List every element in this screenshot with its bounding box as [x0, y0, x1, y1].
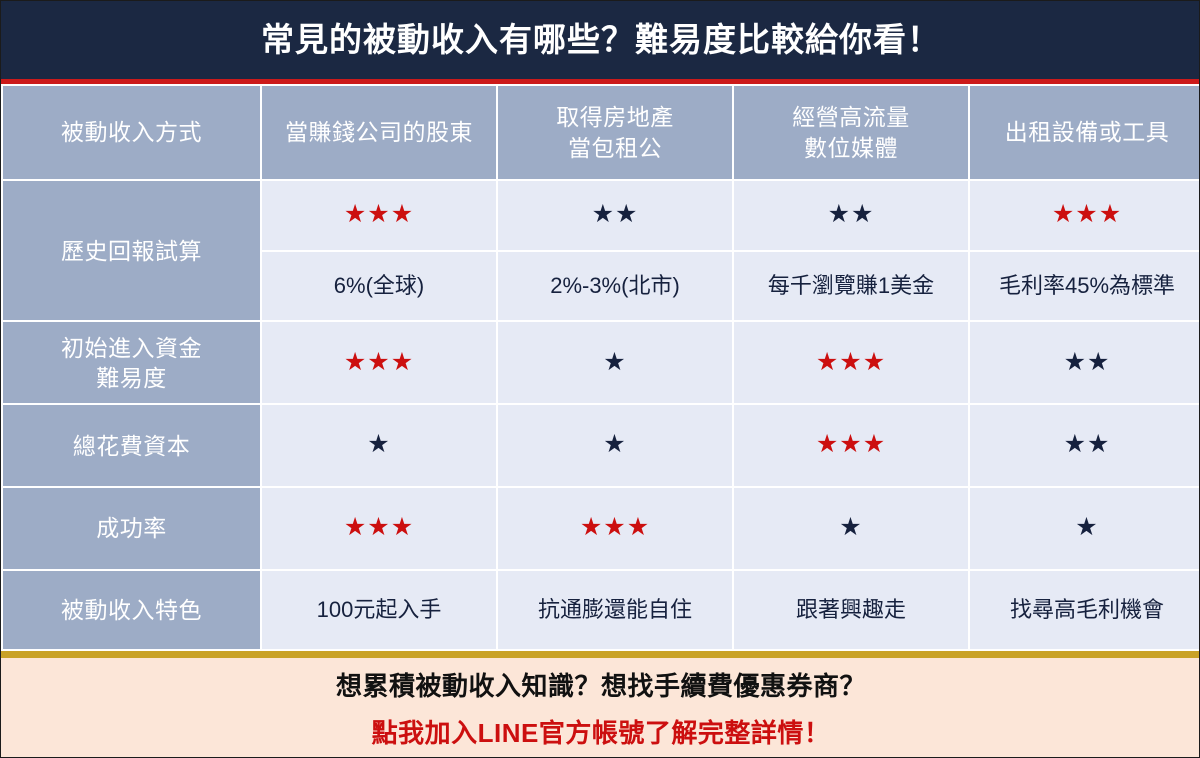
cell-r3c3-stars: ★	[734, 488, 968, 569]
cell-r4c2-value: 抗通膨還能自住	[498, 571, 732, 649]
cell-r3c2-stars: ★★★	[498, 488, 732, 569]
row-label-1-line-1: 初始進入資金	[3, 333, 260, 363]
cell-r1c2-stars: ★	[498, 322, 732, 403]
star-rating: ★★	[1064, 430, 1111, 458]
cell-r0c3-stars: ★★	[734, 181, 968, 250]
comparison-table: 被動收入方式 當賺錢公司的股東 取得房地產 當包租公 經營高流量 數位媒體 出租…	[1, 84, 1200, 651]
header-col-1: 當賺錢公司的股東	[262, 86, 496, 179]
star-rating: ★★	[1064, 348, 1111, 376]
row-label-1-line-2: 難易度	[3, 363, 260, 393]
header-col-1-line-1: 當賺錢公司的股東	[262, 117, 496, 147]
header-col-4: 出租設備或工具	[970, 86, 1200, 179]
cell-value: 100元起入手	[317, 597, 442, 622]
cell-value: 跟著興趣走	[796, 597, 906, 622]
cta-banner: 想累積被動收入知識？想找手續費優惠券商？ 點我加入LINE官方帳號了解完整詳情！	[1, 658, 1200, 758]
table-row: 歷史回報試算 ★★★ ★★ ★★ ★★★	[3, 181, 1200, 250]
row-label-4: 被動收入特色	[3, 571, 260, 649]
cell-r4c3-value: 跟著興趣走	[734, 571, 968, 649]
row-label-4-line-1: 被動收入特色	[3, 595, 260, 625]
header-col-3: 經營高流量 數位媒體	[734, 86, 968, 179]
infographic-page: 常見的被動收入有哪些？難易度比較給你看！ 被動收入方式 當賺錢公司的股東 取得房…	[0, 0, 1200, 758]
row-label-2-line-1: 總花費資本	[3, 431, 260, 461]
comparison-table-wrapper: 被動收入方式 當賺錢公司的股東 取得房地產 當包租公 經營高流量 數位媒體 出租…	[1, 84, 1200, 651]
row-label-0: 歷史回報試算	[3, 181, 260, 320]
star-rating: ★★	[592, 200, 639, 228]
star-rating: ★★	[828, 200, 875, 228]
row-label-3-line-1: 成功率	[3, 513, 260, 543]
cell-r0c3-value: 每千瀏覽賺1美金	[734, 252, 968, 321]
row-label-2: 總花費資本	[3, 405, 260, 486]
cell-value: 每千瀏覽賺1美金	[768, 273, 934, 298]
star-rating: ★	[1075, 513, 1098, 541]
table-row: 總花費資本 ★ ★ ★★★ ★★	[3, 405, 1200, 486]
header-col-2-line-1: 取得房地產	[498, 102, 732, 132]
star-rating: ★★★	[344, 513, 414, 541]
cell-r0c4-stars: ★★★	[970, 181, 1200, 250]
star-rating: ★★★	[816, 430, 886, 458]
cell-r0c2-stars: ★★	[498, 181, 732, 250]
title-bar: 常見的被動收入有哪些？難易度比較給你看！	[1, 1, 1200, 79]
cell-r0c1-value: 6%(全球)	[262, 252, 496, 321]
table-row: 初始進入資金 難易度 ★★★ ★ ★★★ ★★	[3, 322, 1200, 403]
cell-value: 找尋高毛利機會	[1010, 597, 1164, 622]
star-rating: ★	[603, 348, 626, 376]
cell-value: 抗通膨還能自住	[538, 597, 692, 622]
cta-link[interactable]: 點我加入LINE官方帳號了解完整詳情！	[372, 713, 831, 750]
table-row: 被動收入特色 100元起入手 抗通膨還能自住 跟著興趣走 找尋高毛利機會	[3, 571, 1200, 649]
star-rating: ★★★	[1052, 200, 1122, 228]
row-label-3: 成功率	[3, 488, 260, 569]
header-col-3-line-1: 經營高流量	[734, 102, 968, 132]
star-rating: ★★★	[816, 348, 886, 376]
header-col-4-line-1: 出租設備或工具	[970, 117, 1200, 147]
cell-r2c2-stars: ★	[498, 405, 732, 486]
footer-divider	[1, 651, 1200, 658]
cell-r0c2-value: 2%-3%(北市)	[498, 252, 732, 321]
table-row: 成功率 ★★★ ★★★ ★ ★	[3, 488, 1200, 569]
header-col-2: 取得房地產 當包租公	[498, 86, 732, 179]
cell-r3c1-stars: ★★★	[262, 488, 496, 569]
cell-r1c4-stars: ★★	[970, 322, 1200, 403]
cell-r1c3-stars: ★★★	[734, 322, 968, 403]
row-label-1: 初始進入資金 難易度	[3, 322, 260, 403]
row-label-0-line-1: 歷史回報試算	[3, 236, 260, 266]
cell-r4c4-value: 找尋高毛利機會	[970, 571, 1200, 649]
header-corner-label: 被動收入方式	[3, 86, 260, 179]
cell-value: 2%-3%(北市)	[550, 273, 680, 298]
cell-r0c4-value: 毛利率45%為標準	[970, 252, 1200, 321]
header-col-2-line-2: 當包租公	[498, 133, 732, 163]
star-rating: ★	[367, 430, 390, 458]
cta-question: 想累積被動收入知識？想找手續費優惠券商？	[336, 666, 866, 703]
star-rating: ★★★	[344, 200, 414, 228]
cell-r0c1-stars: ★★★	[262, 181, 496, 250]
cell-value: 6%(全球)	[334, 273, 424, 298]
table-header-row: 被動收入方式 當賺錢公司的股東 取得房地產 當包租公 經營高流量 數位媒體 出租…	[3, 86, 1200, 179]
star-rating: ★★★	[580, 513, 650, 541]
star-rating: ★	[839, 513, 862, 541]
cell-r2c4-stars: ★★	[970, 405, 1200, 486]
cell-r2c3-stars: ★★★	[734, 405, 968, 486]
cell-value: 毛利率45%為標準	[999, 273, 1175, 298]
page-title: 常見的被動收入有哪些？難易度比較給你看！	[261, 22, 941, 58]
cell-r3c4-stars: ★	[970, 488, 1200, 569]
header-col-3-line-2: 數位媒體	[734, 133, 968, 163]
cell-r4c1-value: 100元起入手	[262, 571, 496, 649]
star-rating: ★	[603, 430, 626, 458]
star-rating: ★★★	[344, 348, 414, 376]
cell-r1c1-stars: ★★★	[262, 322, 496, 403]
cell-r2c1-stars: ★	[262, 405, 496, 486]
